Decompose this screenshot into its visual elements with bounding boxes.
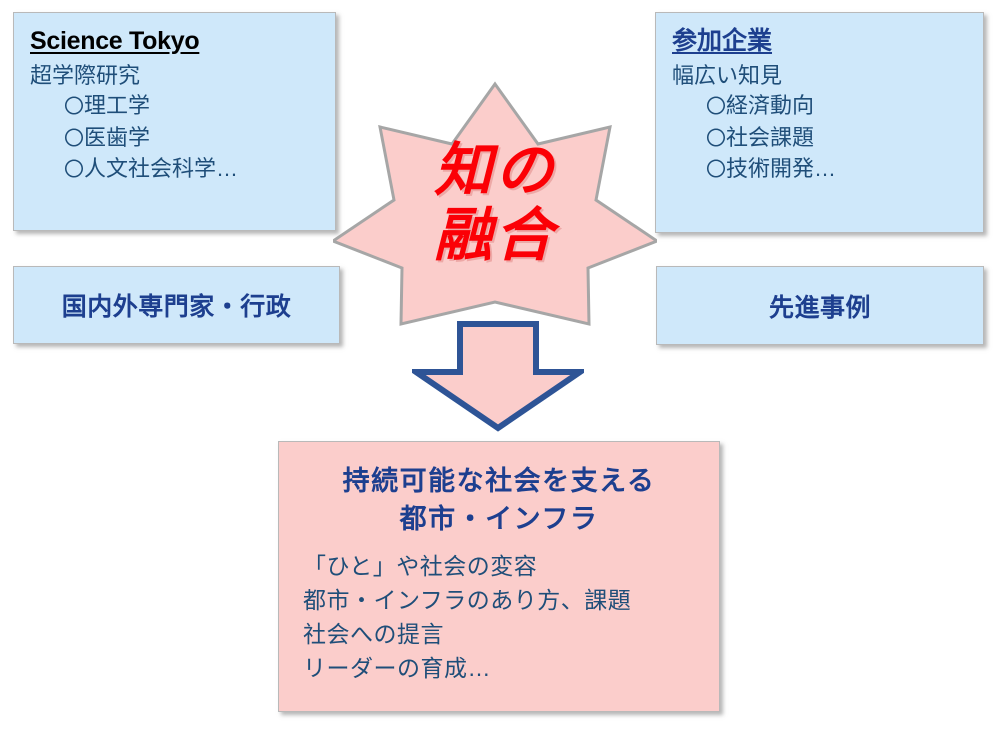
list-item-label: 医歯学: [84, 125, 150, 150]
list-item-label: 技術開発…: [726, 156, 836, 181]
panel-science-tokyo-title: Science Tokyo: [30, 27, 319, 57]
circle-bullet-icon: 〇: [706, 159, 726, 181]
panel-outcome: 持続可能な社会を支える 都市・インフラ 「ひと」や社会の変容 都市・インフラのあ…: [278, 441, 720, 712]
list-item-label: 理工学: [84, 93, 150, 118]
outcome-list: 「ひと」や社会の変容 都市・インフラのあり方、課題 社会への提言 リーダーの育成…: [299, 549, 699, 685]
list-item: 〇人文社会科学…: [64, 153, 319, 184]
list-item: リーダーの育成…: [303, 651, 699, 685]
list-item: 〇理工学: [64, 90, 319, 121]
list-item: 〇社会課題: [706, 122, 967, 153]
list-item: 都市・インフラのあり方、課題: [303, 583, 699, 617]
circle-bullet-icon: 〇: [64, 96, 84, 118]
outcome-heading: 持続可能な社会を支える 都市・インフラ: [299, 462, 699, 539]
star-knowledge-fusion: 知の 融合: [333, 78, 657, 330]
panel-science-tokyo-subtitle: 超学際研究: [30, 61, 319, 91]
panel-companies-title: 参加企業: [672, 27, 967, 57]
panel-cases-label: 先進事例: [769, 288, 871, 324]
circle-bullet-icon: 〇: [706, 96, 726, 118]
diagram-canvas: Science Tokyo 超学際研究 〇理工学 〇医歯学 〇人文社会科学… 参…: [0, 0, 996, 730]
list-item: 〇経済動向: [706, 90, 967, 121]
science-tokyo-list: 〇理工学 〇医歯学 〇人文社会科学…: [30, 90, 319, 184]
down-arrow-icon: [412, 320, 584, 432]
panel-participating-companies: 参加企業 幅広い知見 〇経済動向 〇社会課題 〇技術開発…: [655, 12, 984, 233]
outcome-heading-line2: 都市・インフラ: [299, 500, 699, 538]
list-item: 社会への提言: [303, 617, 699, 651]
list-item-label: 社会課題: [726, 125, 814, 150]
panel-advanced-cases: 先進事例: [656, 266, 984, 345]
circle-bullet-icon: 〇: [64, 128, 84, 150]
panel-experts-label: 国内外専門家・行政: [62, 287, 292, 323]
list-item-label: 人文社会科学…: [84, 156, 238, 181]
list-item-label: 経済動向: [726, 93, 814, 118]
circle-bullet-icon: 〇: [706, 128, 726, 150]
panel-companies-subtitle: 幅広い知見: [672, 61, 967, 91]
list-item: 〇医歯学: [64, 122, 319, 153]
panel-science-tokyo: Science Tokyo 超学際研究 〇理工学 〇医歯学 〇人文社会科学…: [13, 12, 336, 231]
seven-point-star-icon: [333, 84, 657, 324]
outcome-heading-line1: 持続可能な社会を支える: [299, 462, 699, 500]
panel-experts-government: 国内外専門家・行政: [13, 266, 340, 344]
list-item: 「ひと」や社会の変容: [303, 549, 699, 583]
companies-list: 〇経済動向 〇社会課題 〇技術開発…: [672, 90, 967, 184]
list-item: 〇技術開発…: [706, 153, 967, 184]
circle-bullet-icon: 〇: [64, 159, 84, 181]
